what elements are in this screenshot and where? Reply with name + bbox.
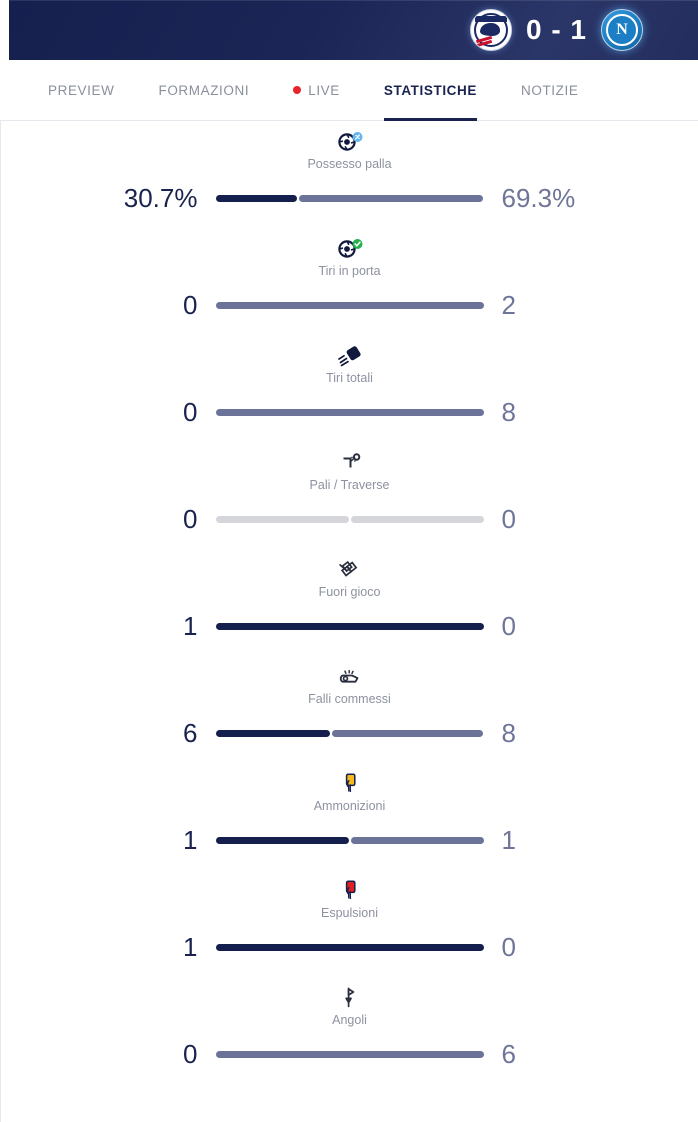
stat-label: Ammonizioni	[1, 799, 698, 813]
stat-bar-home-segment	[216, 195, 298, 202]
stat-home-value: 6	[108, 720, 216, 746]
ball-check-icon	[1, 236, 698, 262]
stat-bar-away-segment	[332, 730, 484, 737]
stat-bar-away-segment	[299, 195, 483, 202]
fc-copenhagen-crest-icon[interactable]	[470, 9, 512, 51]
score-group: 0 - 1 N	[470, 0, 643, 60]
stat-bar-line: 30.7% 69.3%	[1, 178, 698, 218]
stat-label: Tiri in porta	[1, 264, 698, 278]
tab-live[interactable]: LIVE	[293, 60, 340, 121]
stat-label: Falli commessi	[1, 692, 698, 706]
stat-away-value: 0	[484, 506, 592, 532]
tab-formazioni[interactable]: FORMAZIONI	[158, 60, 249, 121]
stat-bar	[216, 516, 484, 523]
tab-label: LIVE	[308, 83, 340, 98]
offside-flag-icon	[1, 557, 698, 583]
stat-bar	[216, 1051, 484, 1058]
match-scoreboard: 0 - 1 N	[0, 0, 698, 60]
whistle-icon	[1, 664, 698, 690]
stat-bar-home-segment	[216, 837, 349, 844]
stat-row: Angoli 0 6	[1, 977, 698, 1084]
stat-bar	[216, 837, 484, 844]
crest-lion	[480, 23, 500, 36]
yellow-card-icon	[1, 771, 698, 797]
tab-statistiche[interactable]: STATISTICHE	[384, 60, 477, 121]
tab-notizie[interactable]: NOTIZIE	[521, 60, 578, 121]
match-tabbar: PREVIEW FORMAZIONI LIVE STATISTICHE NOTI…	[0, 60, 698, 121]
stat-bar-line: 0 0	[1, 499, 698, 539]
stat-bar-line: 0 6	[1, 1034, 698, 1074]
stat-home-value: 1	[108, 934, 216, 960]
stat-row: Falli commessi 6 8	[1, 656, 698, 763]
stat-bar-line: 1 0	[1, 606, 698, 646]
stat-label: Tiri totali	[1, 371, 698, 385]
stat-bar	[216, 623, 484, 630]
stat-row: Fuori gioco 1 0	[1, 549, 698, 656]
stat-away-value: 1	[484, 827, 592, 853]
stat-row: Possesso palla 30.7% 69.3%	[1, 121, 698, 228]
tab-label: NOTIZIE	[521, 83, 578, 98]
stat-bar-away-segment	[351, 516, 484, 523]
stat-bar-line: 0 8	[1, 392, 698, 432]
stat-bar-away-segment	[216, 409, 484, 416]
tab-label: PREVIEW	[48, 83, 114, 98]
stat-away-value: 69.3%	[484, 185, 592, 211]
stat-bar-away-segment	[351, 837, 484, 844]
score-value: 0 - 1	[526, 14, 587, 46]
stat-bar	[216, 730, 484, 737]
stat-bar	[216, 409, 484, 416]
stat-home-value: 1	[108, 827, 216, 853]
tab-label: FORMAZIONI	[158, 83, 249, 98]
shot-ball-icon	[1, 343, 698, 369]
tab-preview[interactable]: PREVIEW	[48, 60, 114, 121]
stat-label: Espulsioni	[1, 906, 698, 920]
crest-letter: N	[616, 22, 628, 38]
stat-bar	[216, 944, 484, 951]
stat-row: Tiri totali 0 8	[1, 335, 698, 442]
stat-bar-home-segment	[216, 944, 484, 951]
ball-percent-icon	[1, 129, 698, 155]
stat-label: Possesso palla	[1, 157, 698, 171]
stat-away-value: 2	[484, 292, 592, 318]
stat-away-value: 0	[484, 613, 592, 639]
stat-bar-away-segment	[216, 302, 484, 309]
stat-home-value: 0	[108, 506, 216, 532]
stat-row: Tiri in porta 0 2	[1, 228, 698, 335]
statistics-panel: Possesso palla 30.7% 69.3% Tiri in porta…	[0, 121, 698, 1122]
stat-row: Espulsioni 1 0	[1, 870, 698, 977]
stat-row: Ammonizioni 1 1	[1, 763, 698, 870]
stat-bar-line: 1 1	[1, 820, 698, 860]
red-card-icon	[1, 878, 698, 904]
stat-away-value: 8	[484, 399, 592, 425]
crest-inner-ring: N	[606, 14, 638, 46]
stat-row: Pali / Traverse 0 0	[1, 442, 698, 549]
stat-label: Angoli	[1, 1013, 698, 1027]
stat-bar	[216, 195, 484, 202]
stat-bar-away-segment	[216, 1051, 484, 1058]
stat-bar-line: 0 2	[1, 285, 698, 325]
stat-bar-home-segment	[216, 623, 484, 630]
stat-away-value: 8	[484, 720, 592, 746]
stat-bar-home-segment	[216, 516, 349, 523]
live-dot-icon	[293, 86, 301, 94]
napoli-crest-icon[interactable]: N	[601, 9, 643, 51]
stat-label: Pali / Traverse	[1, 478, 698, 492]
crest-band	[475, 16, 507, 22]
stat-bar-line: 1 0	[1, 927, 698, 967]
stat-home-value: 0	[108, 292, 216, 318]
corner-flag-icon	[1, 985, 698, 1011]
goalpost-icon	[1, 450, 698, 476]
stat-away-value: 0	[484, 934, 592, 960]
stat-bar-line: 6 8	[1, 713, 698, 753]
stat-away-value: 6	[484, 1041, 592, 1067]
tab-label: STATISTICHE	[384, 83, 477, 98]
stat-bar	[216, 302, 484, 309]
stat-home-value: 30.7%	[108, 185, 216, 211]
stat-bar-home-segment	[216, 730, 330, 737]
stat-home-value: 0	[108, 399, 216, 425]
stat-label: Fuori gioco	[1, 585, 698, 599]
stat-home-value: 1	[108, 613, 216, 639]
stat-home-value: 0	[108, 1041, 216, 1067]
